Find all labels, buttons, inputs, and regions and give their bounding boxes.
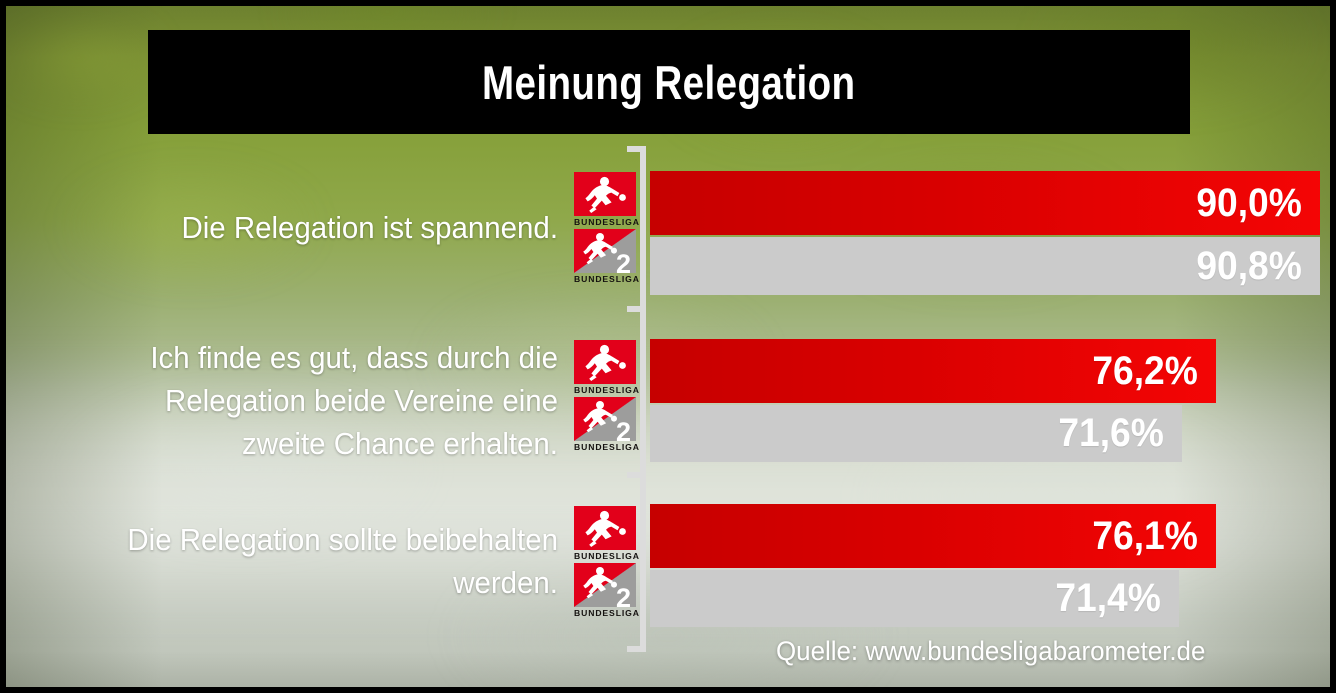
bar-value-label: 90,0% [1196, 181, 1320, 226]
category-label-1: Die Relegation ist spannend. [62, 206, 558, 249]
legend-logos-group-2: BUNDESLIGA 2 [574, 340, 640, 454]
bar-chart: Die Relegation ist spannend. [6, 6, 1330, 687]
bar-group-3-bundesliga: 76,1% [650, 504, 1216, 568]
bar-group-3-bundesliga-2: 71,4% [650, 570, 1179, 627]
bar-value-label: 90,8% [1196, 244, 1320, 289]
category-label-3: Die Relegation sollte beibehalten werden… [62, 518, 558, 604]
bar-value-label: 71,6% [1058, 411, 1182, 456]
axis-tick-group-1-2 [627, 306, 641, 312]
bundesliga-2-logo-wordmark: BUNDESLIGA [574, 274, 636, 284]
bundesliga-2-logo-wordmark: BUNDESLIGA [574, 608, 636, 618]
legend-logos-group-1: BUNDESLIGA 2 [574, 172, 640, 286]
bundesliga-2-logo: 2 BUNDESLIGA [574, 397, 636, 452]
bundesliga-2-logo-mark: 2 [574, 229, 636, 273]
footballer-icon [574, 506, 636, 550]
axis-tick-bottom [627, 646, 641, 652]
bundesliga-logo: BUNDESLIGA [574, 172, 636, 227]
bundesliga-logo-wordmark: BUNDESLIGA [574, 217, 636, 227]
bar-value-label: 71,4% [1055, 576, 1179, 621]
category-label-2: Ich finde es gut, dass durch die Relegat… [62, 336, 558, 465]
source-attribution: Quelle: www.bundesligabarometer.de [776, 636, 1205, 667]
bar-group-2-bundesliga: 76,2% [650, 339, 1216, 403]
bundesliga-logo-mark [574, 172, 636, 216]
category-axis-line [640, 146, 646, 652]
bar-value-label: 76,1% [1092, 514, 1216, 559]
bundesliga-2-logo-wordmark: BUNDESLIGA [574, 442, 636, 452]
bundesliga-logo: BUNDESLIGA [574, 506, 636, 561]
bar-group-1-bundesliga-2: 90,8% [650, 237, 1320, 295]
bundesliga-2-logo: 2 BUNDESLIGA [574, 563, 636, 618]
legend-logos-group-3: BUNDESLIGA 2 [574, 506, 640, 620]
axis-tick-top [627, 146, 641, 152]
infographic-canvas: Meinung Relegation Die Relegation ist sp… [0, 0, 1336, 693]
logo-tier-number: 2 [616, 251, 631, 273]
bundesliga-logo-mark [574, 340, 636, 384]
bundesliga-2-logo-mark: 2 [574, 397, 636, 441]
bundesliga-logo-wordmark: BUNDESLIGA [574, 385, 636, 395]
bar-value-label: 76,2% [1092, 349, 1216, 394]
bundesliga-logo: BUNDESLIGA [574, 340, 636, 395]
axis-tick-group-2-3 [627, 472, 641, 478]
bundesliga-2-logo: 2 BUNDESLIGA [574, 229, 636, 284]
logo-tier-number: 2 [616, 585, 631, 607]
bundesliga-logo-mark [574, 506, 636, 550]
footballer-icon [574, 172, 636, 216]
bar-group-1-bundesliga: 90,0% [650, 171, 1320, 235]
footballer-icon [574, 340, 636, 384]
bundesliga-2-logo-mark: 2 [574, 563, 636, 607]
logo-tier-number: 2 [616, 419, 631, 441]
bar-group-2-bundesliga-2: 71,6% [650, 405, 1182, 462]
bundesliga-logo-wordmark: BUNDESLIGA [574, 551, 636, 561]
